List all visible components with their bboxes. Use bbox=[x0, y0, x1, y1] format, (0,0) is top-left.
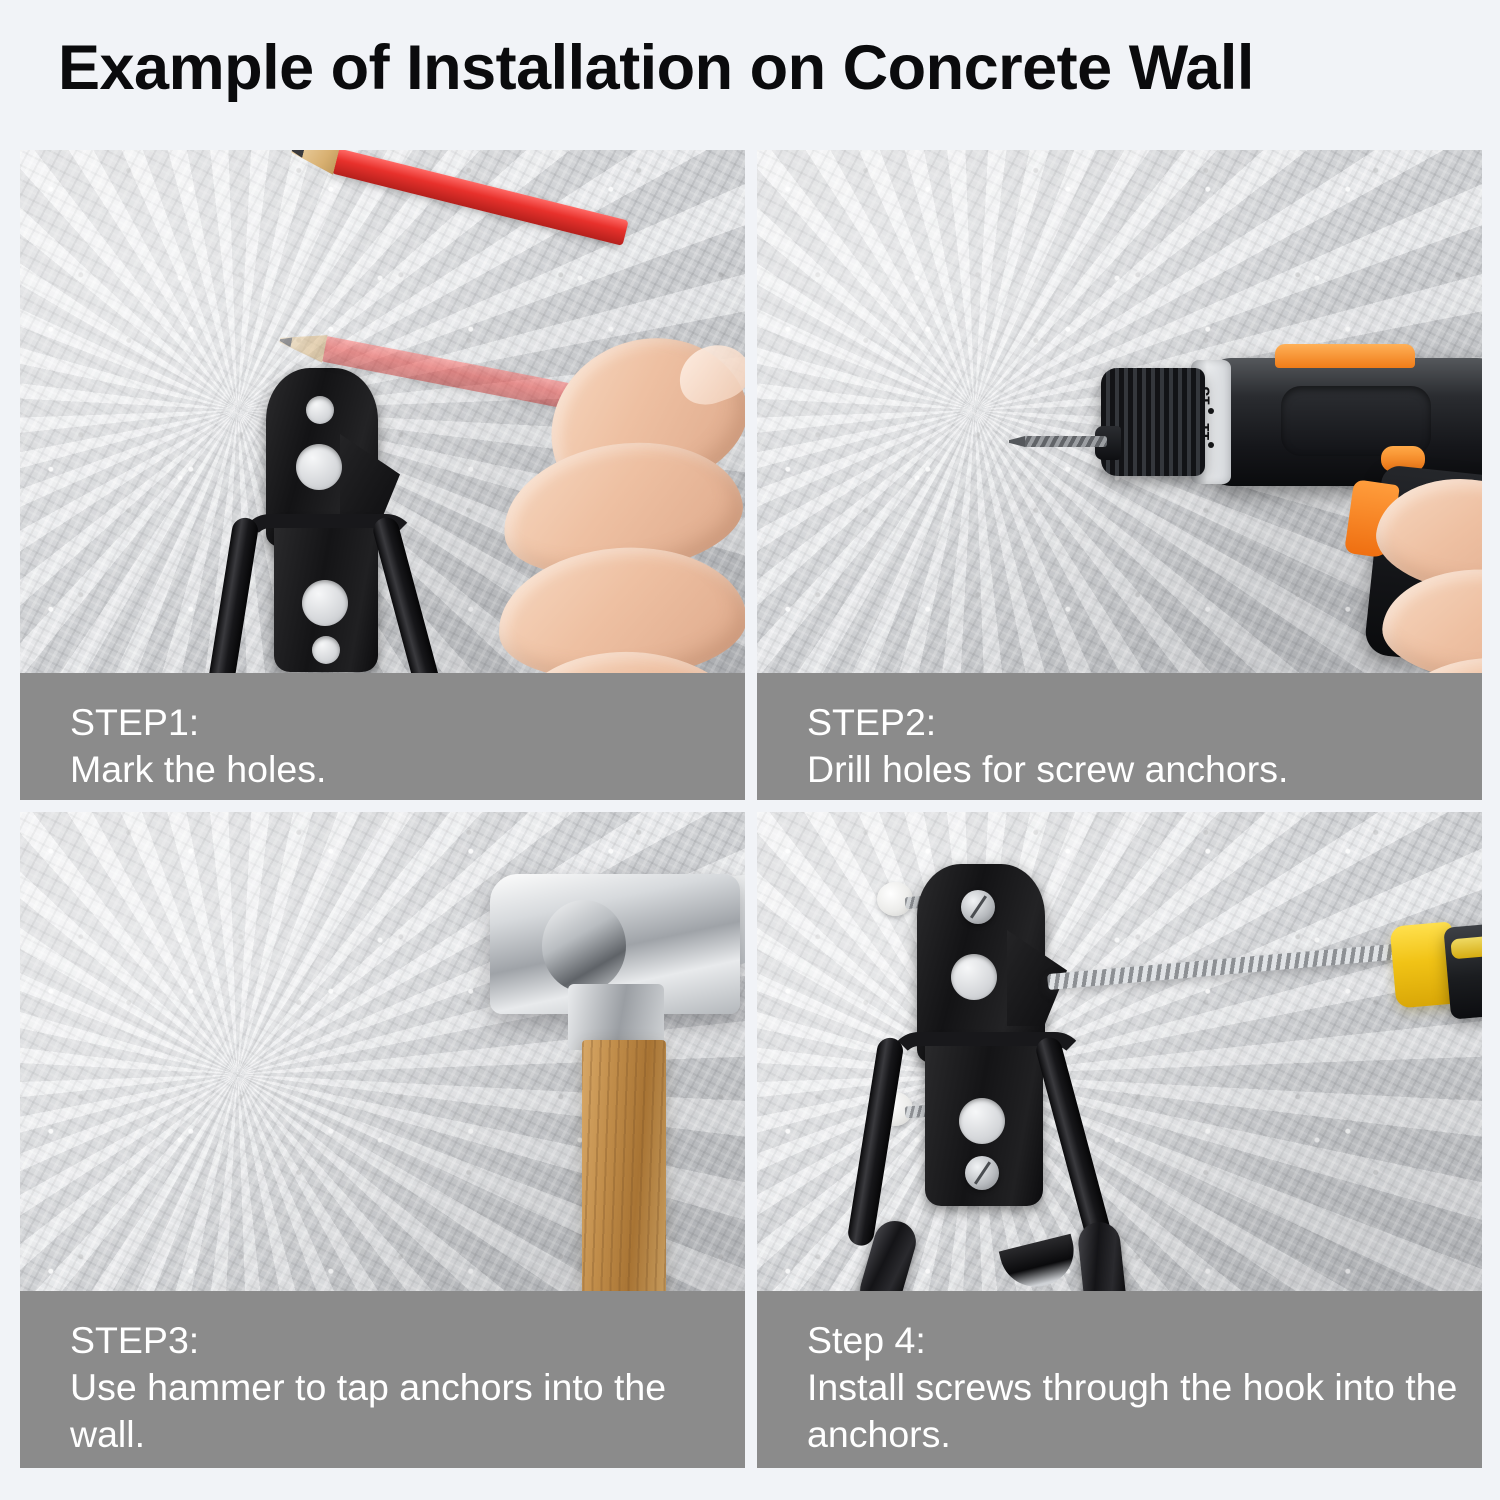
step-3-label: STEP3: bbox=[70, 1317, 745, 1364]
screw-head-bottom bbox=[965, 1156, 999, 1190]
installation-infographic: Example of Installation on Concrete Wall bbox=[0, 0, 1500, 1500]
step-4-description-line-2: anchors. bbox=[807, 1411, 1482, 1458]
torque-dot bbox=[1208, 442, 1214, 448]
step-1-caption: STEP1: Mark the holes. bbox=[20, 673, 745, 800]
step-2-description: Drill holes for screw anchors. bbox=[807, 746, 1482, 793]
mount-hole-icon bbox=[302, 580, 348, 626]
mount-hole-icon bbox=[959, 1098, 1005, 1144]
screw-hole-icon bbox=[306, 396, 334, 424]
drill-body bbox=[1207, 358, 1482, 486]
drill-top-accent bbox=[1275, 344, 1415, 368]
step-panel-1: STEP1: Mark the holes. bbox=[20, 150, 745, 800]
step-panel-3: STEP3: Use hammer to tap anchors into th… bbox=[20, 812, 745, 1468]
hammer-face bbox=[542, 900, 626, 992]
mount-hole-icon bbox=[951, 954, 997, 1000]
step-4-description-line-1: Install screws through the hook into the bbox=[807, 1364, 1482, 1411]
step-3-description-line-1: Use hammer to tap anchors into the bbox=[70, 1364, 745, 1411]
screw-hole-icon bbox=[312, 636, 340, 664]
torque-dot bbox=[1208, 408, 1214, 414]
drill-chuck bbox=[1101, 368, 1205, 476]
mount-hole-icon bbox=[296, 444, 342, 490]
step-4-caption: Step 4: Install screws through the hook … bbox=[757, 1291, 1482, 1468]
step-1-label: STEP1: bbox=[70, 699, 745, 746]
step-3-caption: STEP3: Use hammer to tap anchors into th… bbox=[20, 1291, 745, 1468]
step-4-label: Step 4: bbox=[807, 1317, 1482, 1364]
screwdriver-handle bbox=[1443, 912, 1482, 1019]
step-panel-4: Step 4: Install screws through the hook … bbox=[757, 812, 1482, 1468]
page-title: Example of Installation on Concrete Wall bbox=[58, 32, 1254, 104]
garage-hook-bracket-mounted bbox=[857, 842, 1187, 1292]
steps-grid: STEP1: Mark the holes. 9 11 bbox=[20, 150, 1482, 1468]
screw-head-top bbox=[961, 890, 995, 924]
step-1-description: Mark the holes. bbox=[70, 746, 745, 793]
step-3-description-line-2: wall. bbox=[70, 1411, 745, 1458]
hook-tip-chrome bbox=[999, 1234, 1081, 1295]
claw-hammer bbox=[420, 852, 745, 1332]
step-panel-2: 9 11 13 bbox=[757, 150, 1482, 800]
drill-bit-icon bbox=[1023, 436, 1107, 447]
step-2-label: STEP2: bbox=[807, 699, 1482, 746]
step-2-caption: STEP2: Drill holes for screw anchors. bbox=[757, 673, 1482, 800]
